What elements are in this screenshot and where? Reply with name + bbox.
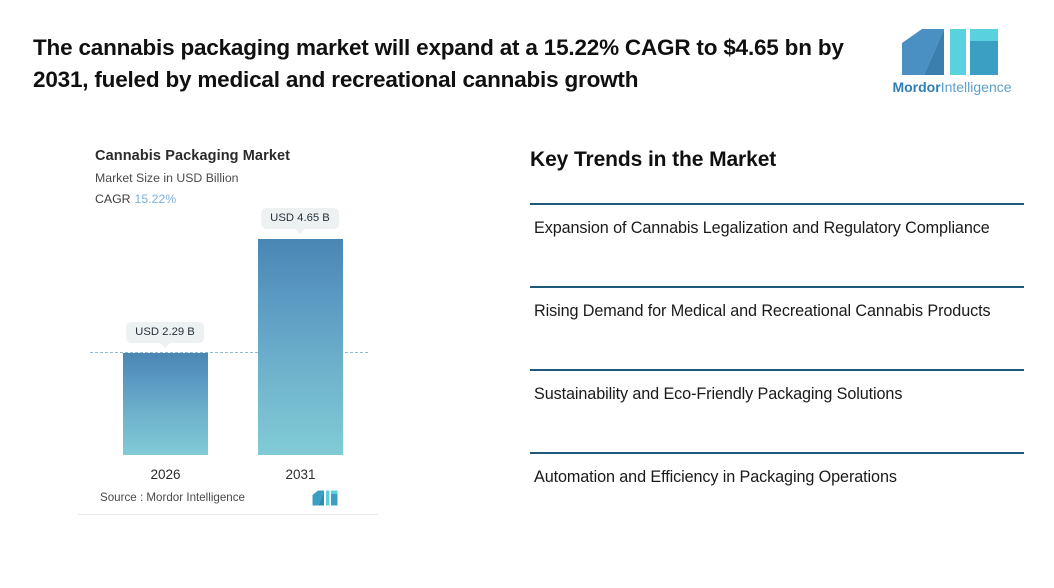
list-item: Sustainability and Eco-Friendly Packagin… [530, 369, 1024, 407]
brand-wordmark: MordorIntelligence [878, 79, 1026, 95]
list-item: Expansion of Cannabis Legalization and R… [530, 203, 1024, 241]
key-trends-title: Key Trends in the Market [530, 148, 1024, 172]
trend-text: Expansion of Cannabis Legalization and R… [530, 205, 1024, 241]
chart-source: Source : Mordor Intelligence [100, 491, 245, 504]
mordor-logo-mark [900, 27, 1000, 77]
brand-name-primary: Mordor [892, 79, 940, 95]
x-axis-label-2026: 2026 [123, 467, 208, 482]
brand-name-secondary: Intelligence [941, 79, 1012, 95]
list-item: Automation and Efficiency in Packaging O… [530, 452, 1024, 490]
bar-chart-plot: USD 2.29 B USD 4.65 B 2026 2031 [78, 130, 378, 515]
chart-card: Cannabis Packaging Market Market Size in… [78, 130, 378, 515]
bar-2031 [258, 239, 343, 455]
slide-root: The cannabis packaging market will expan… [0, 0, 1054, 588]
list-item: Rising Demand for Medical and Recreation… [530, 286, 1024, 324]
key-trends-panel: Key Trends in the Market Expansion of Ca… [530, 148, 1024, 172]
bar-2026 [123, 353, 208, 455]
trend-text: Automation and Efficiency in Packaging O… [530, 454, 1024, 490]
trend-text: Rising Demand for Medical and Recreation… [530, 288, 1024, 324]
data-label-2026: USD 2.29 B [126, 322, 204, 343]
x-axis-label-2031: 2031 [258, 467, 343, 482]
brand-logo: MordorIntelligence [878, 27, 1026, 103]
page-title: The cannabis packaging market will expan… [33, 32, 885, 96]
data-label-2031: USD 4.65 B [261, 208, 339, 229]
header: The cannabis packaging market will expan… [0, 0, 1054, 118]
trend-text: Sustainability and Eco-Friendly Packagin… [530, 371, 1024, 407]
mordor-logo-mark-small [312, 490, 338, 506]
